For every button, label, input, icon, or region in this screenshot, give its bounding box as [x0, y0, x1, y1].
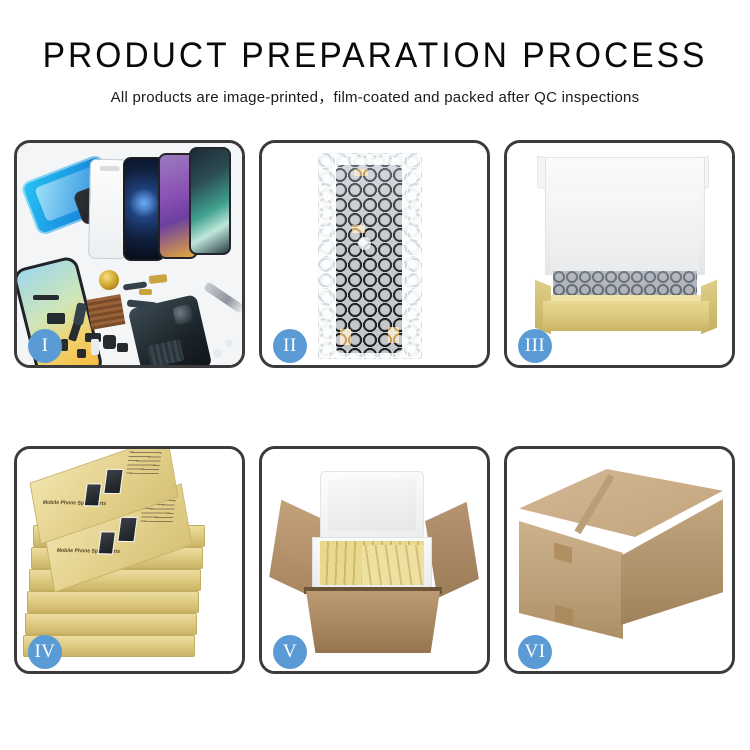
- page-subtitle: All products are image-printed，film-coat…: [0, 86, 750, 107]
- white-screw: [225, 339, 233, 347]
- process-step-2: II: [259, 140, 490, 368]
- step-badge-1: I: [28, 329, 62, 363]
- box-front-panel: [543, 301, 709, 331]
- box-slab: [25, 613, 197, 635]
- spare-chip: [103, 335, 116, 349]
- step-badge-3: III: [518, 329, 552, 363]
- process-step-6: VI: [504, 446, 735, 674]
- screwdriver-icon: [203, 281, 242, 313]
- flex-cable: [127, 299, 158, 309]
- step-badge-4: IV: [28, 635, 62, 669]
- process-step-grid: I II: [14, 140, 736, 674]
- copper-coil: [99, 270, 119, 290]
- part-lens: [358, 237, 371, 250]
- phone-teal-display: [189, 147, 231, 255]
- process-step-4: Mobile Phone Spare Parts Mobile Phone Sp…: [14, 446, 245, 674]
- gold-connector: [149, 274, 168, 284]
- carton-flap-right: [425, 502, 479, 598]
- process-step-1: I: [14, 140, 245, 368]
- white-component: [91, 339, 99, 355]
- tape-strip: [352, 225, 365, 233]
- process-step-3: III: [504, 140, 735, 368]
- carton-front-panel: [306, 591, 440, 653]
- spare-chip: [61, 339, 68, 351]
- foam-sheet: [551, 191, 699, 273]
- spare-chip: [117, 343, 128, 352]
- tape-strip: [354, 169, 368, 176]
- tape-strip: [388, 327, 399, 343]
- white-screw: [213, 349, 222, 358]
- box-spec-lines: [126, 449, 162, 474]
- product-preparation-infographic: PRODUCT PREPARATION PROCESS All products…: [0, 0, 750, 750]
- gold-connector: [139, 289, 152, 295]
- box-window: [103, 469, 124, 494]
- box-window: [98, 531, 116, 554]
- spare-chip: [47, 313, 65, 324]
- box-slab: [27, 591, 199, 613]
- styrofoam-lid: [320, 471, 424, 539]
- spare-chip: [33, 295, 59, 300]
- pcb-board: [87, 294, 126, 329]
- tempered-glass-sheet: [88, 159, 128, 260]
- header: PRODUCT PREPARATION PROCESS All products…: [0, 0, 750, 107]
- retail-boxes-row-2: [362, 545, 424, 585]
- step-badge-5: V: [273, 635, 307, 669]
- box-window: [117, 517, 138, 542]
- box-window: [84, 483, 102, 506]
- tape-strip: [340, 329, 351, 345]
- step-badge-6: VI: [518, 635, 552, 669]
- spare-chip: [77, 349, 86, 358]
- page-title: PRODUCT PREPARATION PROCESS: [15, 38, 735, 75]
- step-badge-2: II: [273, 329, 307, 363]
- process-step-5: V: [259, 446, 490, 674]
